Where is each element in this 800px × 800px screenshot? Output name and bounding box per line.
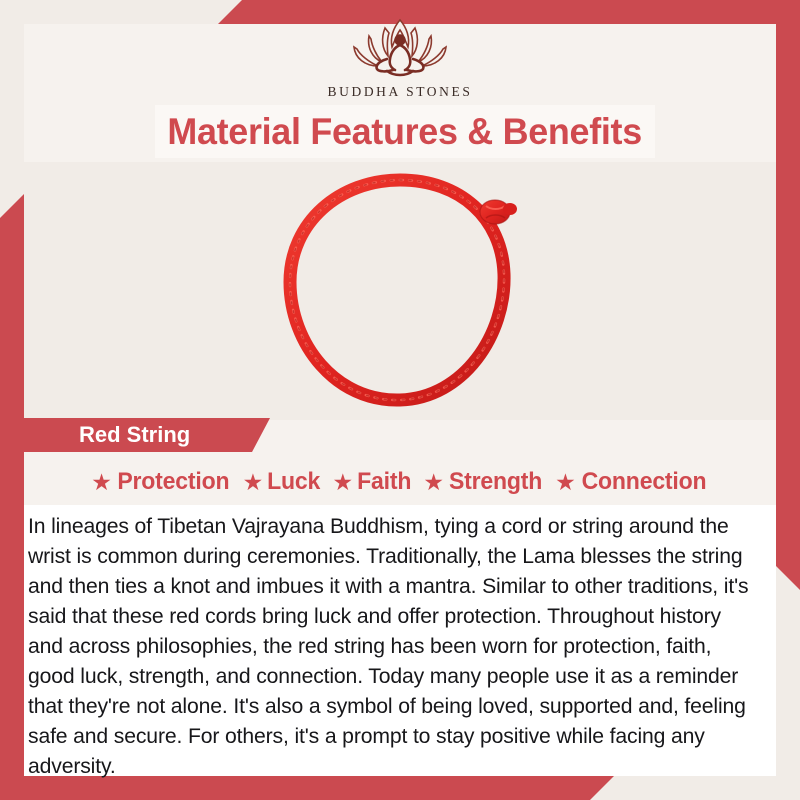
lotus-meditation-icon [325, 14, 475, 82]
decor-band-left [0, 194, 24, 780]
benefit-item: ★ Faith [332, 468, 412, 496]
star-icon: ★ [243, 471, 264, 494]
infographic-page: BUDDHA STONES Material Features & Benefi… [0, 0, 800, 800]
benefit-item: ★ Connection [555, 468, 709, 496]
brand-name: BUDDHA STONES [328, 84, 473, 100]
page-title-plate: Material Features & Benefits [155, 105, 655, 158]
star-icon: ★ [555, 471, 576, 494]
benefit-label: Faith [357, 468, 411, 496]
red-string-bracelet-illustration [250, 166, 550, 416]
description-text: In lineages of Tibetan Vajrayana Buddhis… [28, 511, 761, 781]
description-block: In lineages of Tibetan Vajrayana Buddhis… [24, 505, 776, 776]
decor-band-right [776, 24, 800, 590]
star-icon: ★ [423, 471, 444, 494]
benefit-item: ★ Protection [91, 468, 231, 496]
brand-header: BUDDHA STONES [0, 14, 800, 100]
benefit-item: ★ Strength [423, 468, 544, 496]
product-image [24, 162, 776, 420]
star-icon: ★ [91, 471, 112, 494]
benefit-label: Luck [267, 468, 320, 496]
page-title: Material Features & Benefits [168, 113, 643, 150]
benefit-label: Strength [449, 468, 542, 496]
benefit-item: ★ Luck [243, 468, 322, 496]
product-badge: Red String [24, 418, 270, 452]
star-icon: ★ [332, 471, 353, 494]
benefit-label: Connection [581, 468, 706, 496]
benefits-list: ★ Protection ★ Luck ★ Faith ★ Strength ★… [24, 463, 776, 501]
benefit-label: Protection [117, 468, 229, 496]
product-badge-label: Red String [24, 422, 190, 448]
